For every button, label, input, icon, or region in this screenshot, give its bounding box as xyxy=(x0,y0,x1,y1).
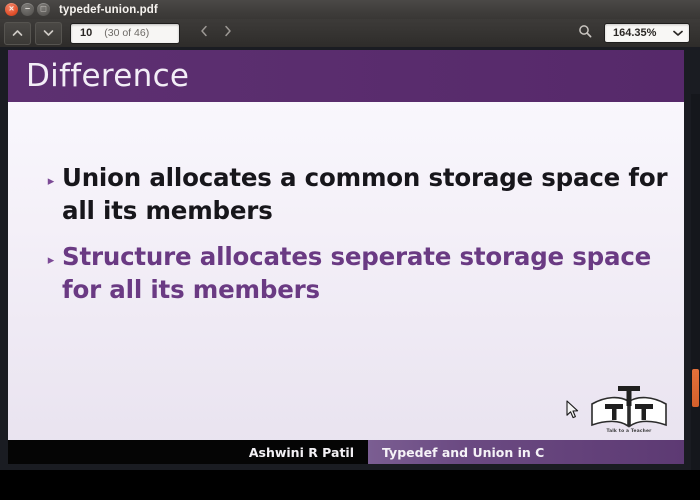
pdf-viewer-window: × − □ typedef-union.pdf 10 (30 of 46) xyxy=(0,0,700,500)
bullet-text: Union allocates a common storage space f… xyxy=(62,162,677,227)
chevron-up-icon xyxy=(12,29,23,37)
pdf-page: Difference ▸ Union allocates a common st… xyxy=(8,50,684,464)
footer-author: Ashwini R Patil xyxy=(249,445,354,460)
window-titlebar: × − □ typedef-union.pdf xyxy=(0,0,700,19)
close-icon: × xyxy=(9,5,14,14)
logo-book-icon xyxy=(588,384,670,430)
talk-to-a-teacher-logo: Talk to a Teacher xyxy=(588,384,670,434)
slide-title-banner: Difference xyxy=(8,50,684,102)
close-window-button[interactable]: × xyxy=(5,3,18,16)
window-title: typedef-union.pdf xyxy=(59,4,158,16)
window-bottom-strip xyxy=(0,470,700,500)
footer-subject: Typedef and Union in C xyxy=(382,445,544,460)
page-count-label: (30 of 46) xyxy=(92,27,149,39)
maximize-window-button[interactable]: □ xyxy=(37,3,50,16)
chevron-down-icon xyxy=(673,24,683,42)
scrollbar-thumb[interactable] xyxy=(692,369,699,407)
document-view[interactable]: Difference ▸ Union allocates a common st… xyxy=(0,47,700,470)
chevron-right-icon xyxy=(224,24,232,42)
search-button[interactable] xyxy=(572,22,598,44)
bullet-triangle-icon: ▸ xyxy=(40,162,62,189)
zoom-level-select[interactable]: 164.35% xyxy=(604,23,690,43)
search-icon xyxy=(578,24,592,43)
slide-title: Difference xyxy=(8,58,189,94)
chevron-left-icon xyxy=(200,24,208,42)
minimize-icon: − xyxy=(25,5,30,14)
list-item: ▸ Structure allocates seperate storage s… xyxy=(8,241,684,306)
minimize-window-button[interactable]: − xyxy=(21,3,34,16)
viewer-toolbar: 10 (30 of 46) xyxy=(0,19,700,48)
footer-subject-segment: Typedef and Union in C xyxy=(368,440,684,464)
logo-caption: Talk to a Teacher xyxy=(588,429,670,434)
slide-footer: Ashwini R Patil Typedef and Union in C xyxy=(8,440,684,464)
history-back-button[interactable] xyxy=(192,23,216,44)
slide-bullet-list: ▸ Union allocates a common storage space… xyxy=(8,162,684,320)
footer-author-segment: Ashwini R Patil xyxy=(8,440,368,464)
bullet-text: Structure allocates seperate storage spa… xyxy=(62,241,677,306)
bullet-triangle-icon: ▸ xyxy=(40,241,62,268)
history-forward-button[interactable] xyxy=(216,23,240,44)
history-navigation-group xyxy=(192,23,240,44)
page-number-value: 10 xyxy=(71,27,92,39)
chevron-down-icon xyxy=(43,29,54,37)
page-number-input[interactable]: 10 (30 of 46) xyxy=(70,23,180,44)
zoom-level-value: 164.35% xyxy=(613,27,656,39)
list-item: ▸ Union allocates a common storage space… xyxy=(8,162,684,227)
previous-page-button[interactable] xyxy=(4,22,31,45)
window-controls: × − □ xyxy=(0,3,50,16)
maximize-icon: □ xyxy=(41,5,46,14)
vertical-scrollbar[interactable] xyxy=(691,94,700,500)
next-page-button[interactable] xyxy=(35,22,62,45)
